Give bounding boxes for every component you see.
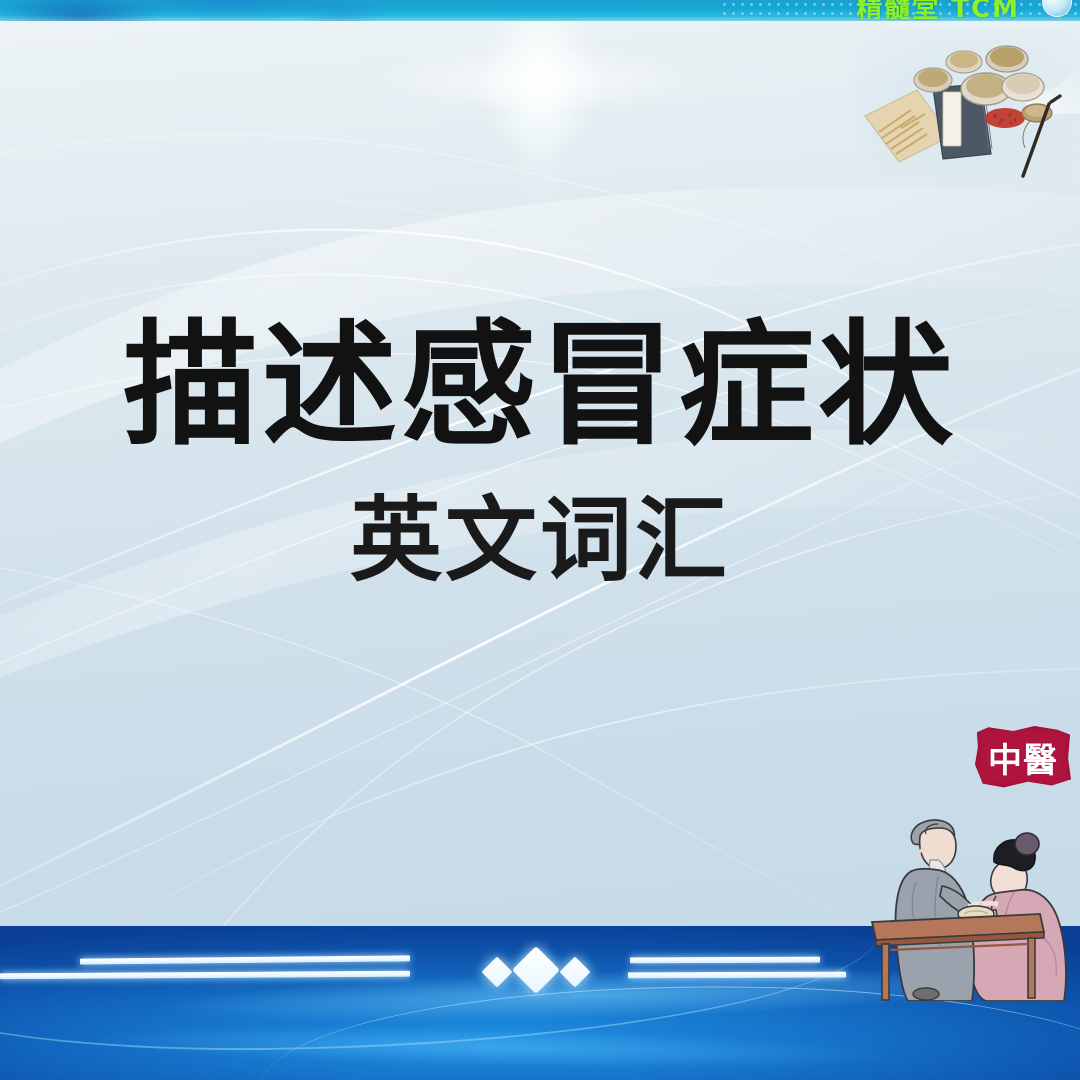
tcm-red-seal: 中醫 <box>975 726 1071 788</box>
seal-label: 中醫 <box>975 726 1071 788</box>
divider-line-left-bottom <box>0 971 410 980</box>
banner-brand-text: 精髓堂 TCM <box>856 0 1020 21</box>
page-title: 描述感冒症状 <box>0 318 1080 453</box>
divider-line-right-top <box>630 957 820 964</box>
diamond-icon-right <box>559 956 590 987</box>
diamond-icon-left <box>481 956 512 987</box>
banner-swirl-decor <box>0 0 420 21</box>
presentation-slide: 精髓堂 TCM <box>0 0 1080 1080</box>
diamond-icon-center <box>512 946 560 994</box>
top-banner: 精髓堂 TCM <box>0 0 1080 21</box>
tcm-herbs-photo <box>855 28 1080 183</box>
divider-line-left-top <box>80 955 410 964</box>
tcm-consultation-illustration <box>868 786 1080 1001</box>
lens-flare-glow <box>280 0 800 230</box>
page-subtitle: 英文词汇 <box>0 495 1080 587</box>
divider-line-right-bottom <box>628 972 846 979</box>
